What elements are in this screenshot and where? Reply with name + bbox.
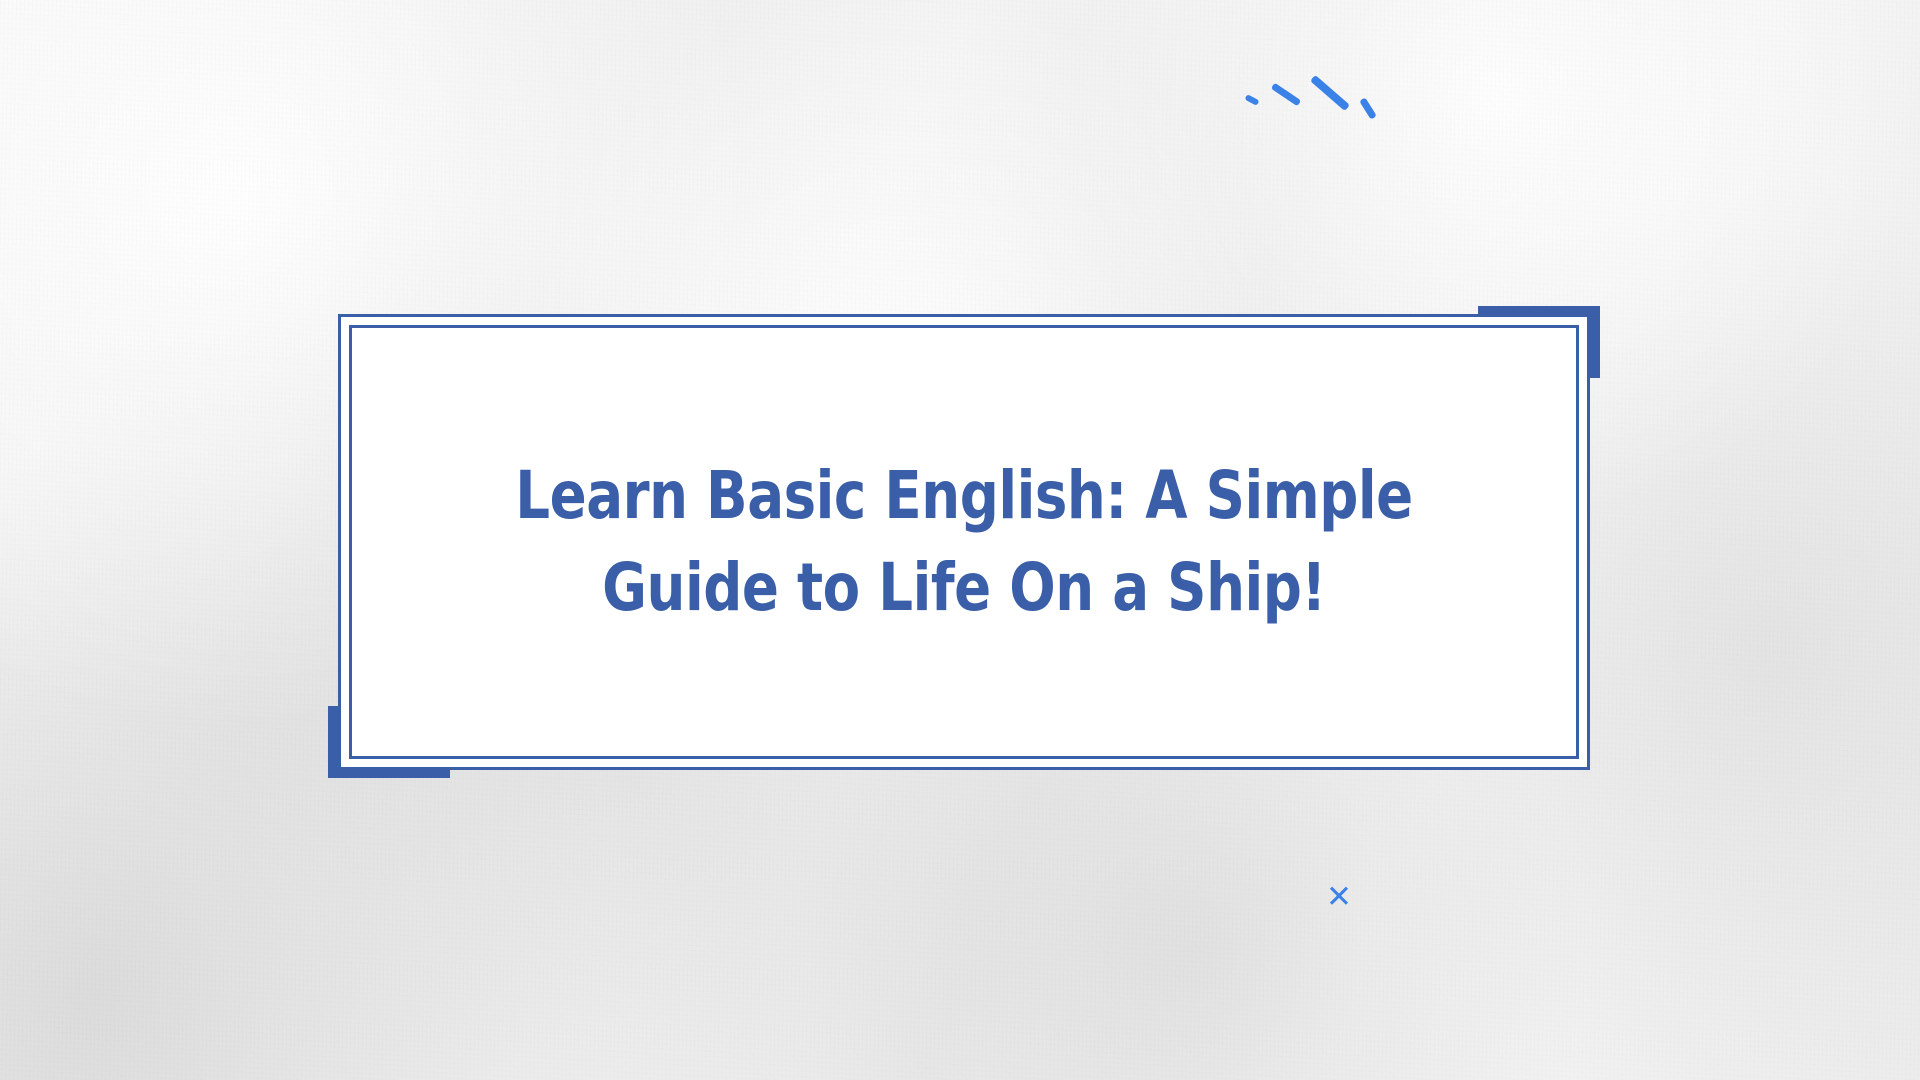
dash-segment-4 bbox=[1359, 97, 1377, 119]
page-title: Learn Basic English: A Simple Guide to L… bbox=[456, 450, 1472, 635]
card-inner-border: Learn Basic English: A Simple Guide to L… bbox=[349, 325, 1579, 759]
diagonal-dashes-icon bbox=[1245, 75, 1385, 135]
card-outer-border: Learn Basic English: A Simple Guide to L… bbox=[338, 314, 1590, 770]
slide-root: Learn Basic English: A Simple Guide to L… bbox=[0, 0, 1920, 1080]
dash-segment-1 bbox=[1244, 94, 1259, 106]
title-card: Learn Basic English: A Simple Guide to L… bbox=[338, 314, 1590, 770]
x-mark-icon: ✕ bbox=[1322, 880, 1356, 914]
dash-segment-3 bbox=[1310, 75, 1350, 111]
dash-segment-2 bbox=[1271, 83, 1301, 107]
title-block: Learn Basic English: A Simple Guide to L… bbox=[352, 450, 1576, 635]
